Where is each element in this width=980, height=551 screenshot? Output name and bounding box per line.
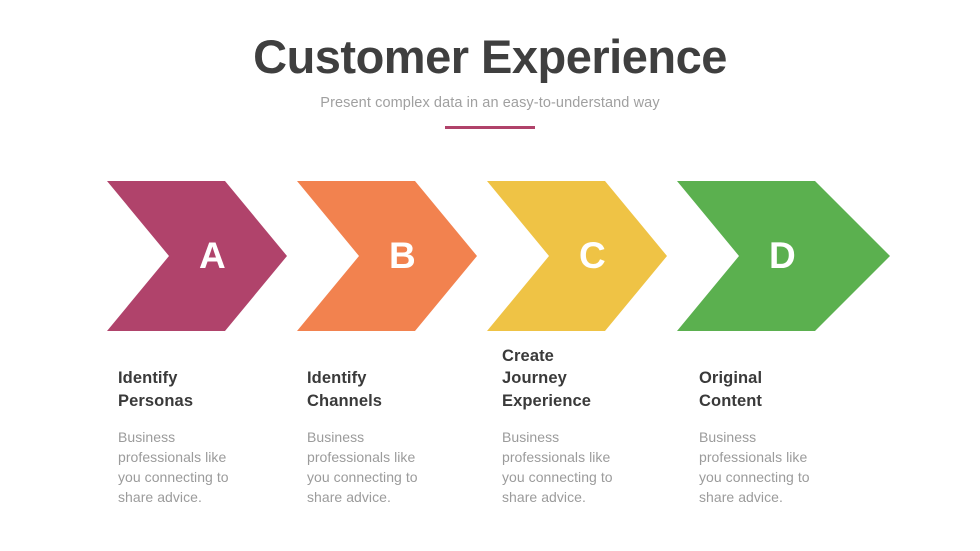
chevron-step-2[interactable] [297, 181, 477, 331]
chevron-shape-icon [487, 181, 667, 331]
caption-heading-3: Create Journey Experience [502, 345, 662, 412]
chevron-step-1[interactable] [107, 181, 287, 331]
chevron-shape-icon [677, 181, 890, 331]
caption-body-2: Business professionals like you connecti… [307, 428, 435, 508]
page-title: Customer Experience [0, 32, 980, 83]
page-subtitle: Present complex data in an easy-to-under… [0, 95, 980, 112]
chevron-polygon-4 [677, 181, 890, 331]
caption-heading-wrap-2: Identify Channels [307, 340, 467, 412]
chevron-step-4[interactable] [677, 181, 890, 331]
caption-block-1: Identify Personas Business professionals… [118, 340, 278, 508]
caption-body-1: Business professionals like you connecti… [118, 428, 246, 508]
caption-heading-2: Identify Channels [307, 367, 467, 412]
chevron-polygon-2 [297, 181, 477, 331]
chevron-polygon-1 [107, 181, 287, 331]
caption-block-4: Original Content Business professionals … [699, 340, 859, 508]
chevron-shape-icon [107, 181, 287, 331]
caption-body-3: Business professionals like you connecti… [502, 428, 630, 508]
chevron-polygon-3 [487, 181, 667, 331]
caption-body-4: Business professionals like you connecti… [699, 428, 827, 508]
caption-heading-wrap-1: Identify Personas [118, 340, 278, 412]
caption-heading-4: Original Content [699, 367, 859, 412]
chevron-step-3[interactable] [487, 181, 667, 331]
chevron-shape-icon [297, 181, 477, 331]
caption-heading-1: Identify Personas [118, 367, 278, 412]
caption-heading-wrap-4: Original Content [699, 340, 859, 412]
accent-divider [445, 126, 535, 129]
caption-heading-wrap-3: Create Journey Experience [502, 340, 662, 412]
captions-row: Identify Personas Business professionals… [0, 340, 980, 520]
caption-block-3: Create Journey Experience Business profe… [502, 340, 662, 508]
header: Customer Experience Present complex data… [0, 32, 980, 129]
chevron-band: A B C D [0, 181, 980, 331]
infographic-slide: Customer Experience Present complex data… [0, 0, 980, 551]
caption-block-2: Identify Channels Business professionals… [307, 340, 467, 508]
